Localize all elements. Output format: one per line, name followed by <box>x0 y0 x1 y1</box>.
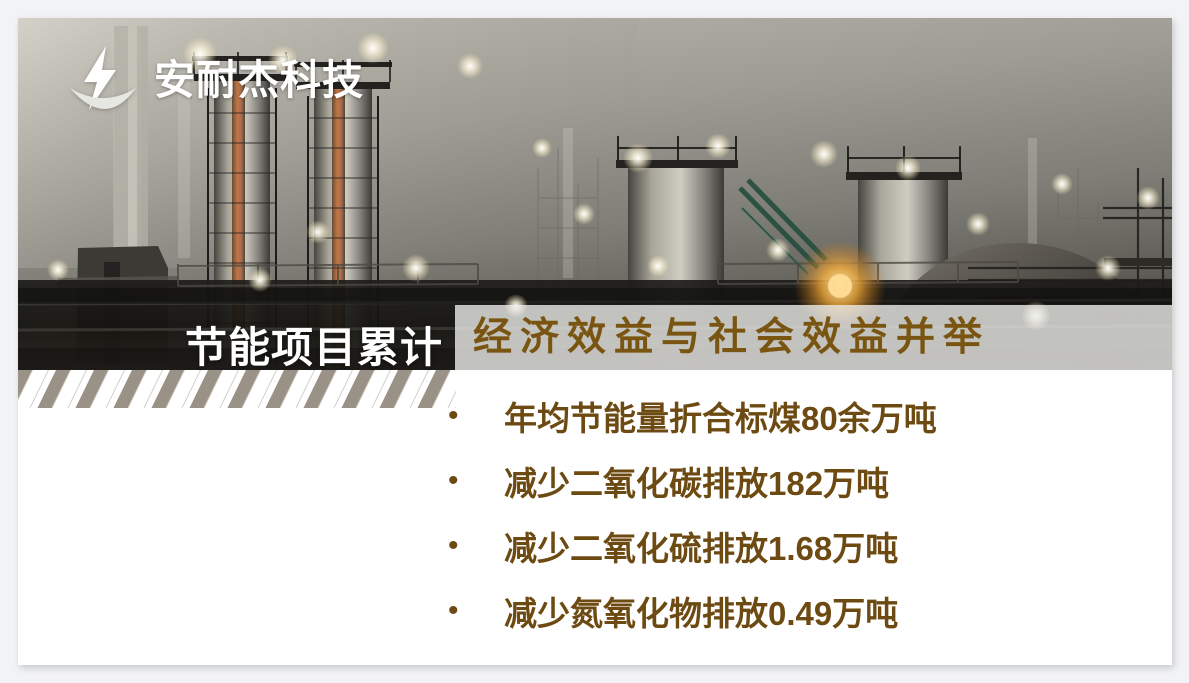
brand-logo: 安耐杰科技 <box>66 44 364 116</box>
bullet-marker: • <box>432 596 478 626</box>
bullet-marker: • <box>432 531 478 561</box>
list-item: • 减少二氧化碳排放182万吨 <box>432 448 1132 513</box>
page-title: 经济效益与社会效益并举 <box>473 312 1172 364</box>
slide-canvas: 安耐杰科技 节能项目累计 经济效益与社会效益并举 • 年均节能量折合标煤80余万… <box>18 18 1172 665</box>
photo-overline-heading: 节能项目累计 <box>185 325 443 370</box>
bullet-text: 减少二氧化碳排放182万吨 <box>478 457 889 505</box>
list-item: • 减少氮氧化物排放0.49万吨 <box>432 578 1132 643</box>
bullet-text: 减少氮氧化物排放0.49万吨 <box>478 587 898 635</box>
bullet-marker: • <box>432 466 478 496</box>
lightning-bolt-icon <box>66 44 140 116</box>
list-item: • 年均节能量折合标煤80余万吨 <box>432 383 1132 448</box>
bullet-text: 减少二氧化硫排放1.68万吨 <box>478 522 898 570</box>
diagonal-hatch-band <box>18 370 456 408</box>
brand-wordmark: 安耐杰科技 <box>154 60 364 101</box>
bullet-list: • 年均节能量折合标煤80余万吨 • 减少二氧化碳排放182万吨 • 减少二氧化… <box>432 383 1132 643</box>
list-item: • 减少二氧化硫排放1.68万吨 <box>432 513 1132 578</box>
bullet-text: 年均节能量折合标煤80余万吨 <box>478 392 937 440</box>
